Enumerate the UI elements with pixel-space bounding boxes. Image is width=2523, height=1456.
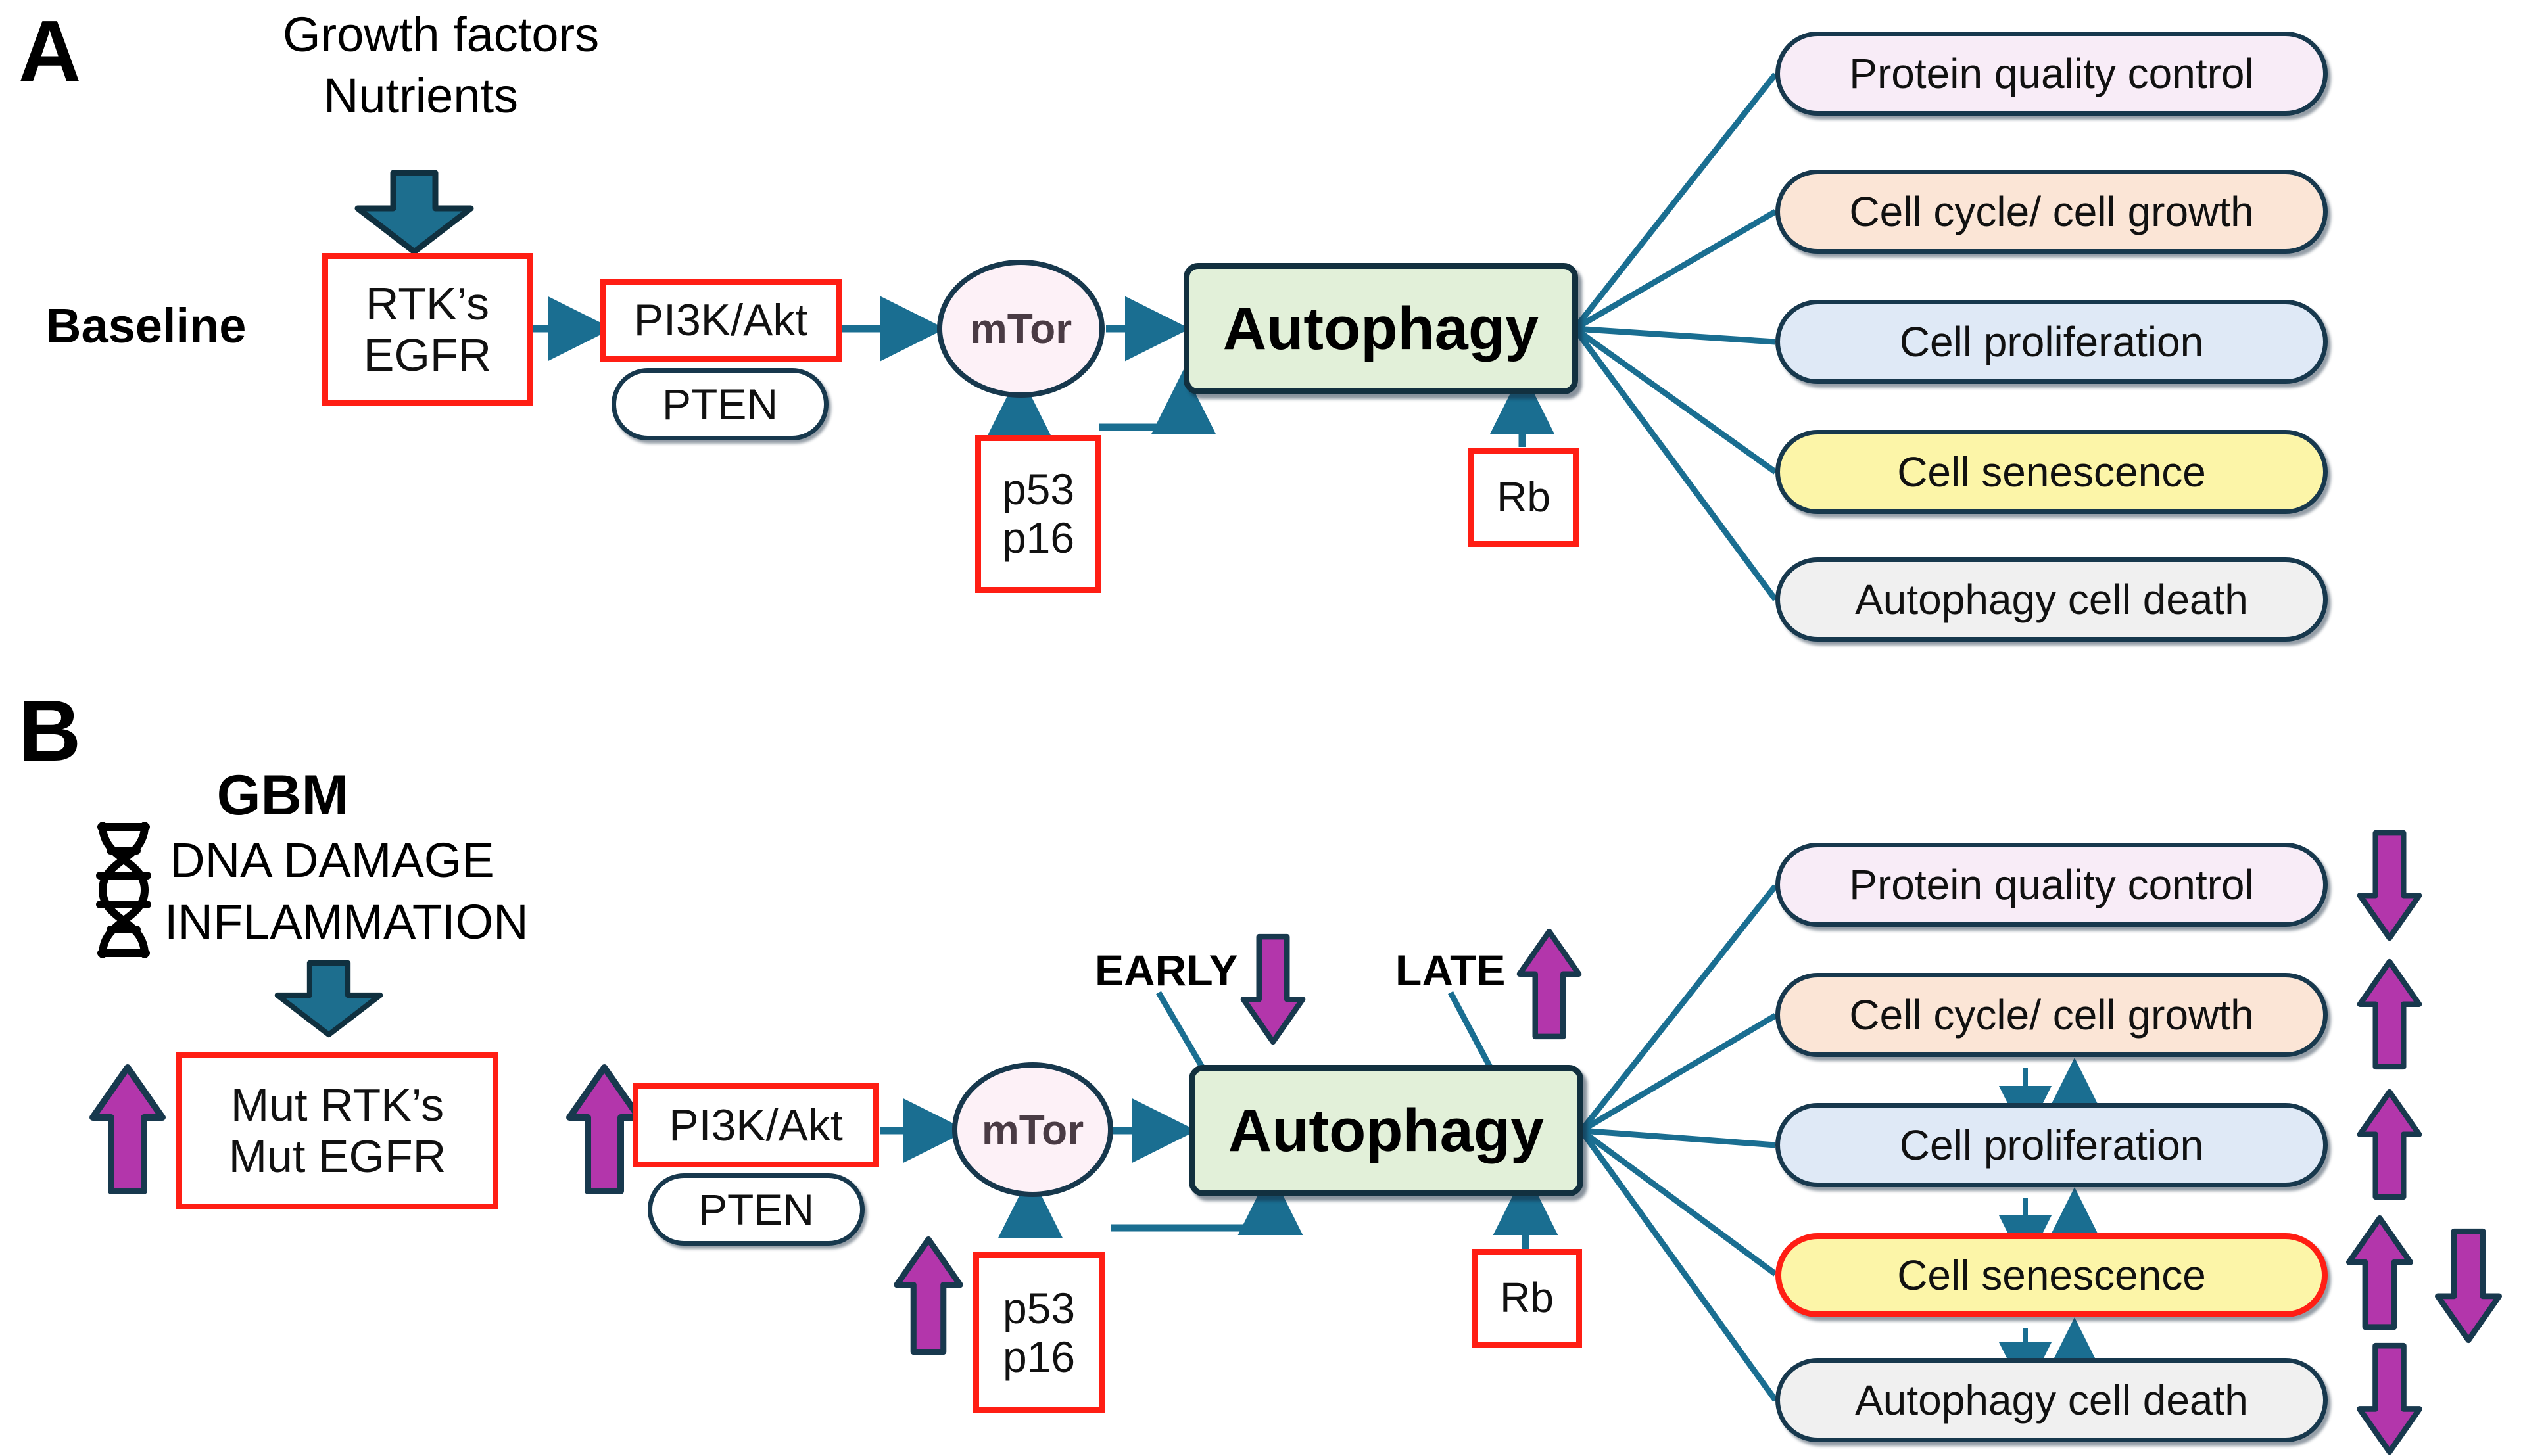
- panel-b-outcome-pill[interactable]: Protein quality control: [1775, 843, 2328, 927]
- panel-a-outcome-pill[interactable]: Autophagy cell death: [1775, 557, 2328, 642]
- panel-b-pten-node[interactable]: PTEN: [648, 1173, 865, 1246]
- panel-a-outcome-pill[interactable]: Cell proliferation: [1775, 300, 2328, 384]
- autophagy-label: Autophagy: [1223, 294, 1539, 364]
- dna-helix-icon: [91, 820, 156, 960]
- purple-up-arrow-icon: [565, 1064, 643, 1195]
- purple-up-arrow-icon: [2354, 1089, 2425, 1200]
- panel-b-timing-early-label: EARLY: [1095, 945, 1238, 995]
- panel-b-receptor-box[interactable]: Mut RTK’s Mut EGFR: [176, 1052, 498, 1209]
- outcome-label: Protein quality control: [1849, 49, 2253, 98]
- suppressor-line1: p53: [1002, 465, 1074, 514]
- block-down-arrow-icon: [342, 168, 487, 256]
- panel-b-outcome-pill[interactable]: Cell senescence: [1775, 1233, 2328, 1317]
- panel-a-condition-label: Baseline: [46, 299, 246, 354]
- panel-b-timing-late-label: LATE: [1395, 945, 1505, 995]
- kinase-label: PI3K/Akt: [669, 1100, 843, 1150]
- rb-label: Rb: [1500, 1275, 1554, 1322]
- mtor-label: mTor: [970, 304, 1072, 353]
- panel-a-outcome-pill[interactable]: Cell senescence: [1775, 430, 2328, 514]
- receptor-line2: Mut EGFR: [229, 1131, 446, 1182]
- panel-b-letter: B: [18, 688, 81, 774]
- suppressor-line1: p53: [1003, 1284, 1075, 1333]
- panel-b-rb-box[interactable]: Rb: [1472, 1249, 1582, 1348]
- panel-a-kinase-box[interactable]: PI3K/Akt: [600, 279, 842, 362]
- purple-up-arrow-icon: [2344, 1215, 2415, 1330]
- outcome-label: Cell cycle/ cell growth: [1849, 187, 2253, 236]
- purple-up-arrow-icon: [89, 1064, 166, 1195]
- outcome-label: Cell cycle/ cell growth: [1849, 991, 2253, 1039]
- rb-label: Rb: [1497, 474, 1550, 521]
- panel-b-outcome-pill[interactable]: Autophagy cell death: [1775, 1358, 2328, 1442]
- receptor-line1: RTK’s: [366, 278, 489, 329]
- block-down-arrow-icon: [263, 956, 395, 1041]
- panel-a-mtor-node[interactable]: mTor: [937, 260, 1105, 398]
- panel-b-condition-label: GBM: [158, 764, 408, 827]
- panel-b-suppressor-box[interactable]: p53 p16: [973, 1252, 1105, 1413]
- panel-a-rb-box[interactable]: Rb: [1468, 448, 1579, 547]
- purple-down-arrow-icon: [2433, 1228, 2504, 1344]
- outcome-label: Autophagy cell death: [1855, 1376, 2248, 1424]
- panel-b-autophagy-hub[interactable]: Autophagy: [1189, 1065, 1583, 1196]
- pten-label: PTEN: [698, 1185, 814, 1234]
- panel-a-pten-node[interactable]: PTEN: [612, 368, 829, 440]
- outcome-label: Autophagy cell death: [1855, 575, 2248, 624]
- panel-b-kinase-box[interactable]: PI3K/Akt: [633, 1083, 879, 1167]
- purple-up-arrow-icon: [2354, 958, 2425, 1070]
- panel-a-outcome-pill[interactable]: Protein quality control: [1775, 32, 2328, 116]
- receptor-line2: EGFR: [364, 329, 491, 381]
- autophagy-label: Autophagy: [1228, 1096, 1544, 1165]
- panel-b-mtor-node[interactable]: mTor: [952, 1062, 1113, 1197]
- panel-a-receptor-box[interactable]: RTK’s EGFR: [322, 253, 533, 406]
- outcome-label: Cell senescence: [1897, 448, 2206, 496]
- panel-a-outcome-pill[interactable]: Cell cycle/ cell growth: [1775, 170, 2328, 254]
- pten-label: PTEN: [662, 379, 778, 429]
- figure-canvas: A Growth factors Nutrients Baseline RTK’…: [0, 0, 2523, 1456]
- panel-b-outcome-pill[interactable]: Cell proliferation: [1775, 1103, 2328, 1187]
- purple-up-arrow-icon: [1512, 928, 1586, 1040]
- outcome-label: Cell senescence: [1897, 1251, 2206, 1300]
- purple-down-arrow-icon: [1236, 933, 1310, 1045]
- panel-a-stimulus-line2: Nutrients: [283, 69, 559, 124]
- panel-b-outcome-pill[interactable]: Cell cycle/ cell growth: [1775, 973, 2328, 1057]
- panel-b-stimulus-line1: DNA DAMAGE: [164, 834, 500, 888]
- panel-b-stimulus-line2: INFLAMMATION: [164, 895, 500, 950]
- panel-a-letter: A: [18, 8, 81, 95]
- panel-a-autophagy-hub[interactable]: Autophagy: [1184, 263, 1578, 394]
- outcome-label: Protein quality control: [1849, 860, 2253, 909]
- outcome-label: Cell proliferation: [1900, 1121, 2203, 1169]
- suppressor-line2: p16: [1003, 1333, 1075, 1382]
- mtor-label: mTor: [982, 1106, 1084, 1154]
- outcome-label: Cell proliferation: [1900, 317, 2203, 366]
- receptor-line1: Mut RTK’s: [231, 1079, 444, 1131]
- panel-a-stimulus-line1: Growth factors: [283, 8, 559, 62]
- purple-down-arrow-icon: [2354, 830, 2425, 941]
- kinase-label: PI3K/Akt: [634, 295, 808, 345]
- suppressor-line2: p16: [1002, 514, 1074, 563]
- purple-down-arrow-icon: [2354, 1342, 2425, 1455]
- panel-a-suppressor-box[interactable]: p53 p16: [975, 435, 1101, 593]
- purple-up-arrow-icon: [893, 1236, 964, 1355]
